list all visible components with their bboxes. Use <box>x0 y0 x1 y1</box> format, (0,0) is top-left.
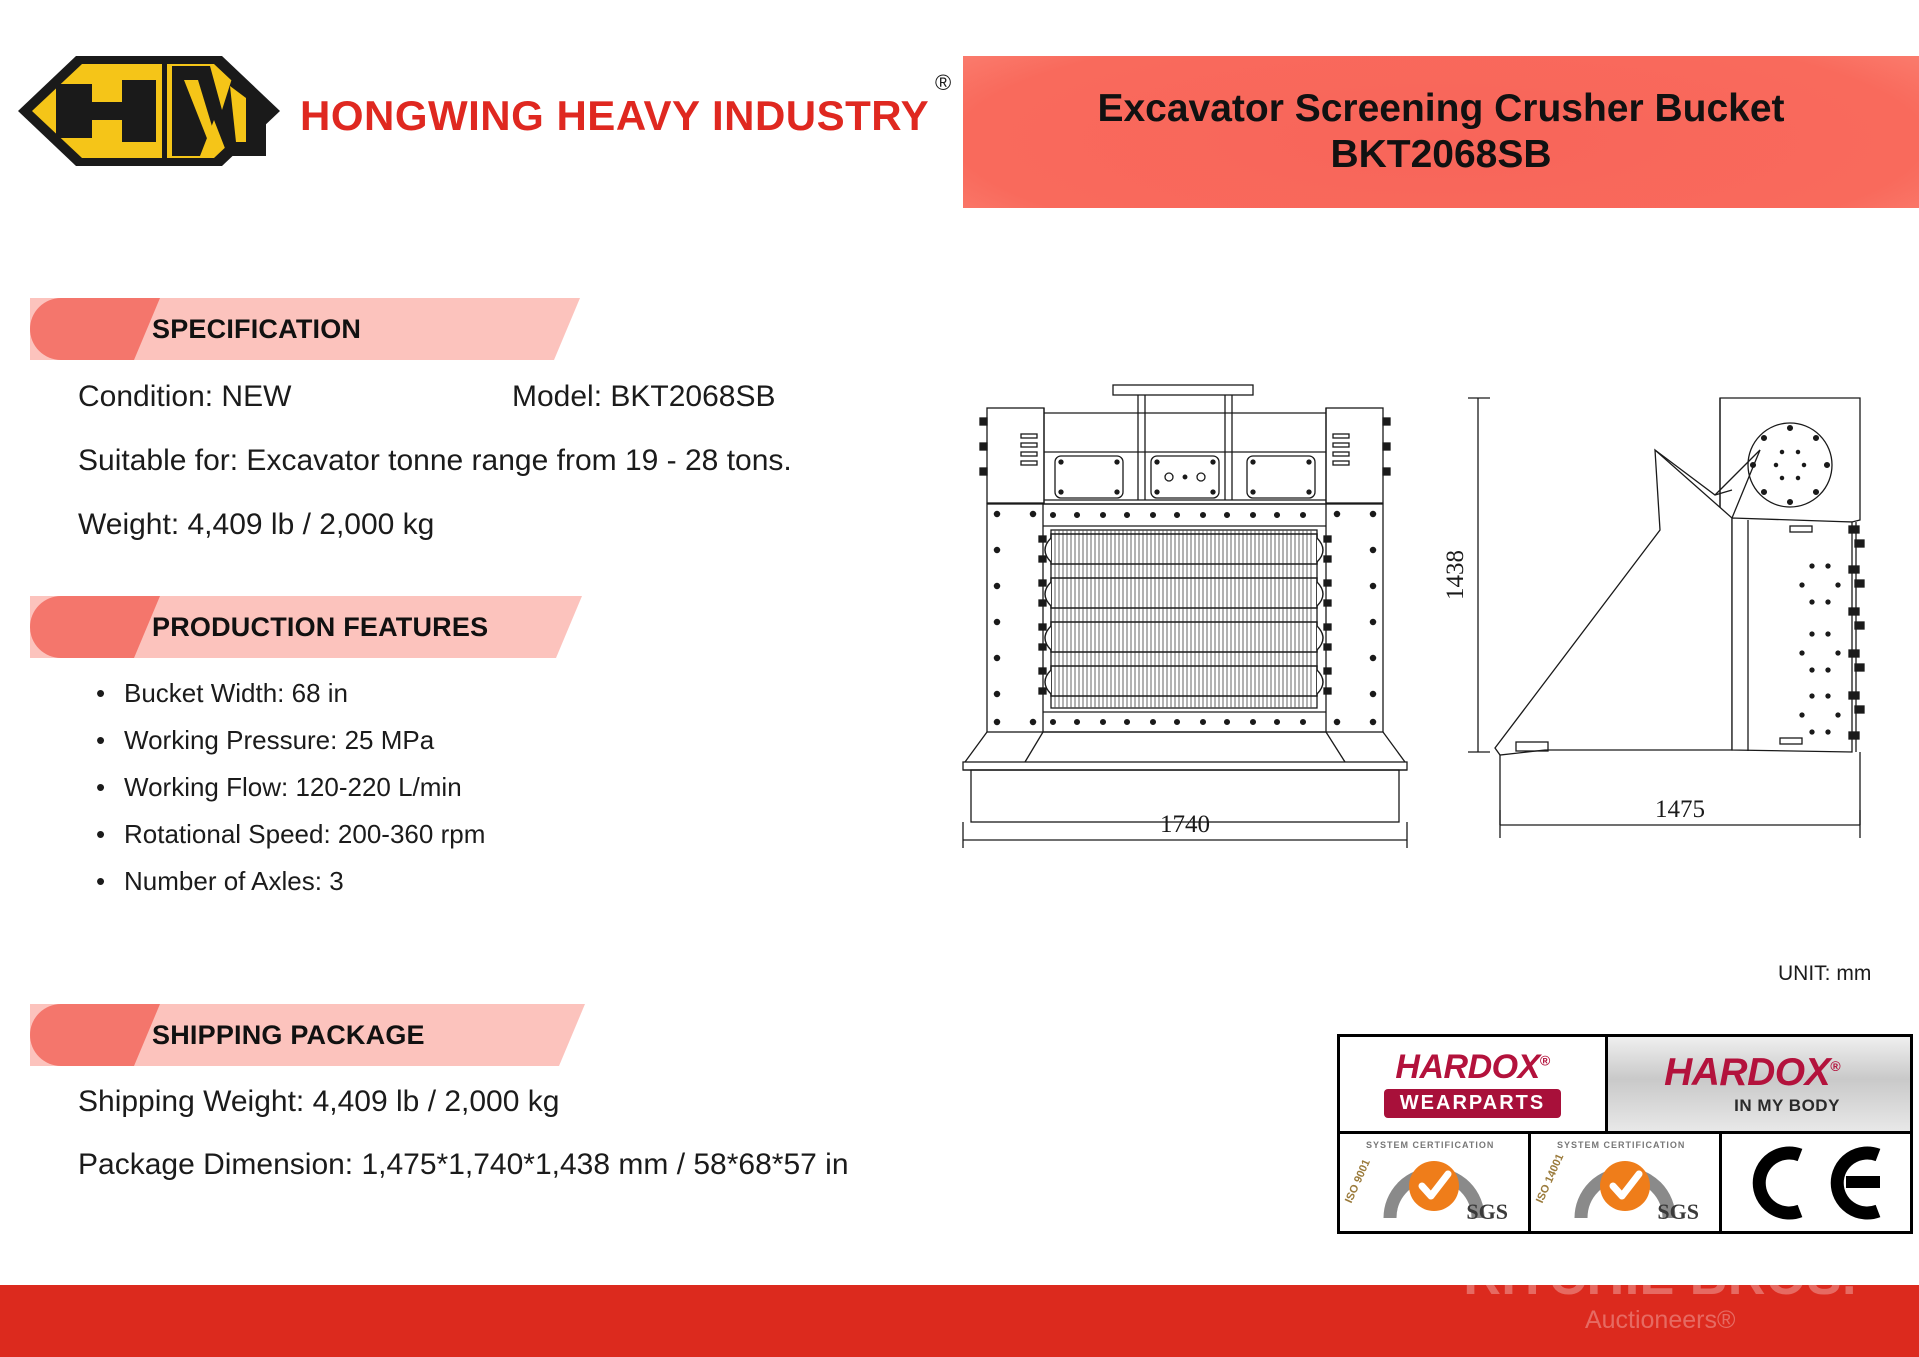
watermark-brand: RITCHIE BROS. <box>1463 1285 1857 1303</box>
system-certification-label: SYSTEM CERTIFICATION <box>1366 1140 1494 1150</box>
side-view-drawing <box>1468 398 1864 838</box>
product-model-title: BKT2068SB <box>1330 132 1551 178</box>
ce-mark-icon <box>1722 1134 1910 1231</box>
hongwing-logo-icon <box>14 36 284 186</box>
brand-name: HONGWING HEAVY INDUSTRY <box>300 92 929 140</box>
system-certification-label: SYSTEM CERTIFICATION <box>1557 1140 1685 1150</box>
list-item: Bucket Width: 68 in <box>124 670 485 717</box>
side-view-height-label: 1438 <box>1442 550 1469 600</box>
production-features-heading: PRODUCTION FEATURES <box>152 596 488 658</box>
package-dimension-text: Package Dimension: 1,475*1,740*1,438 mm … <box>78 1148 849 1182</box>
iso-standard-label: ISO 9001 <box>1343 1158 1373 1205</box>
sgs-label: SGS <box>1466 1199 1508 1225</box>
ritchie-bros-watermark: RITCHIE BROS. Auctioneers® <box>1463 1285 1857 1333</box>
shipping-package-ribbon: SHIPPING PACKAGE <box>30 1004 585 1066</box>
specification-heading: SPECIFICATION <box>152 298 361 360</box>
page-header: HONGWING HEAVY INDUSTRY ® Excavator Scre… <box>0 0 1919 250</box>
list-item: Number of Axles: 3 <box>124 858 485 905</box>
hardox-word-text: HARDOX <box>1395 1048 1539 1086</box>
registered-trademark-icon: ® <box>1540 1053 1550 1069</box>
suitable-for-text: Suitable for: Excavator tonne range from… <box>78 444 792 478</box>
iso-9001-sgs-logo-icon: SYSTEM CERTIFICATION ISO 9001 SGS <box>1340 1134 1531 1231</box>
unit-label: UNIT: mm <box>1778 962 1871 986</box>
registered-trademark-icon: ® <box>935 70 951 96</box>
registered-trademark-icon: ® <box>1830 1058 1840 1074</box>
front-view-width-label: 1740 <box>1160 811 1210 838</box>
production-features-ribbon: PRODUCTION FEATURES <box>30 596 582 658</box>
wearparts-label: WEARPARTS <box>1384 1089 1561 1118</box>
hardox-in-my-body-logo-icon: HARDOX® IN MY BODY <box>1608 1037 1910 1134</box>
side-view-width-label: 1475 <box>1655 796 1705 823</box>
hardox-wordmark: HARDOX® <box>1384 1050 1561 1084</box>
list-item: Working Flow: 120-220 L/min <box>124 764 485 811</box>
specification-ribbon: SPECIFICATION <box>30 298 580 360</box>
in-my-body-label: IN MY BODY <box>1664 1096 1840 1116</box>
shipping-package-heading: SHIPPING PACKAGE <box>152 1004 425 1066</box>
list-item: Working Pressure: 25 MPa <box>124 717 485 764</box>
hardox-word-text: HARDOX <box>1664 1051 1830 1094</box>
iso-14001-sgs-logo-icon: SYSTEM CERTIFICATION ISO 14001 SGS <box>1531 1134 1722 1231</box>
certification-grid: HARDOX® WEARPARTS HARDOX® IN MY BODY SYS… <box>1337 1034 1913 1234</box>
watermark-tagline: Auctioneers® <box>1463 1308 1857 1333</box>
hardox-wearparts-logo-icon: HARDOX® WEARPARTS <box>1340 1037 1608 1134</box>
iso-standard-label: ISO 14001 <box>1534 1152 1566 1205</box>
shipping-weight-text: Shipping Weight: 4,409 lb / 2,000 kg <box>78 1085 559 1119</box>
technical-drawings: 1740 1475 1438 <box>955 370 1919 870</box>
front-view-drawing <box>963 385 1407 822</box>
list-item: Rotational Speed: 200-360 rpm <box>124 811 485 858</box>
product-title-banner: Excavator Screening Crusher Bucket BKT20… <box>963 56 1919 208</box>
sgs-label: SGS <box>1657 1199 1699 1225</box>
weight-text: Weight: 4,409 lb / 2,000 kg <box>78 508 434 542</box>
ce-glyph-icon <box>1742 1145 1890 1221</box>
production-features-list: Bucket Width: 68 in Working Pressure: 25… <box>76 670 485 905</box>
product-title: Excavator Screening Crusher Bucket <box>1097 86 1784 132</box>
model-text: Model: BKT2068SB <box>512 380 775 414</box>
hardox-wordmark: HARDOX® <box>1664 1053 1840 1092</box>
page-footer: RITCHIE BROS. Auctioneers® <box>0 1285 1919 1357</box>
condition-text: Condition: NEW <box>78 380 291 414</box>
